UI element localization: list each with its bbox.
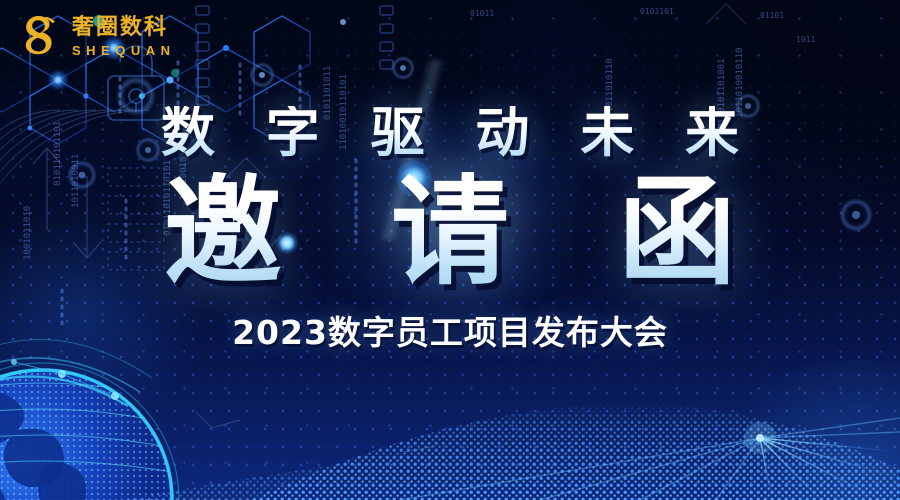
brand-name-cn: 奢圈数科 <box>72 17 176 39</box>
page-title: 邀 请 函 <box>130 172 770 292</box>
shequan-monogram-icon <box>14 12 64 62</box>
poster-content: 数 字 驱 动 未 来 邀 请 函 2023数字员工项目发布大会 <box>0 0 900 500</box>
tagline: 数 字 驱 动 未 来 <box>145 106 755 160</box>
brand-logo-text: 奢圈数科 SHEQUAN <box>72 17 176 57</box>
brand-logo[interactable]: 奢圈数科 SHEQUAN <box>14 12 176 62</box>
invitation-poster: 010110101101 1011010011 01011010110101 1… <box>0 0 900 500</box>
event-subtitle: 2023数字员工项目发布大会 <box>232 316 668 349</box>
brand-name-en: SHEQUAN <box>72 44 176 57</box>
